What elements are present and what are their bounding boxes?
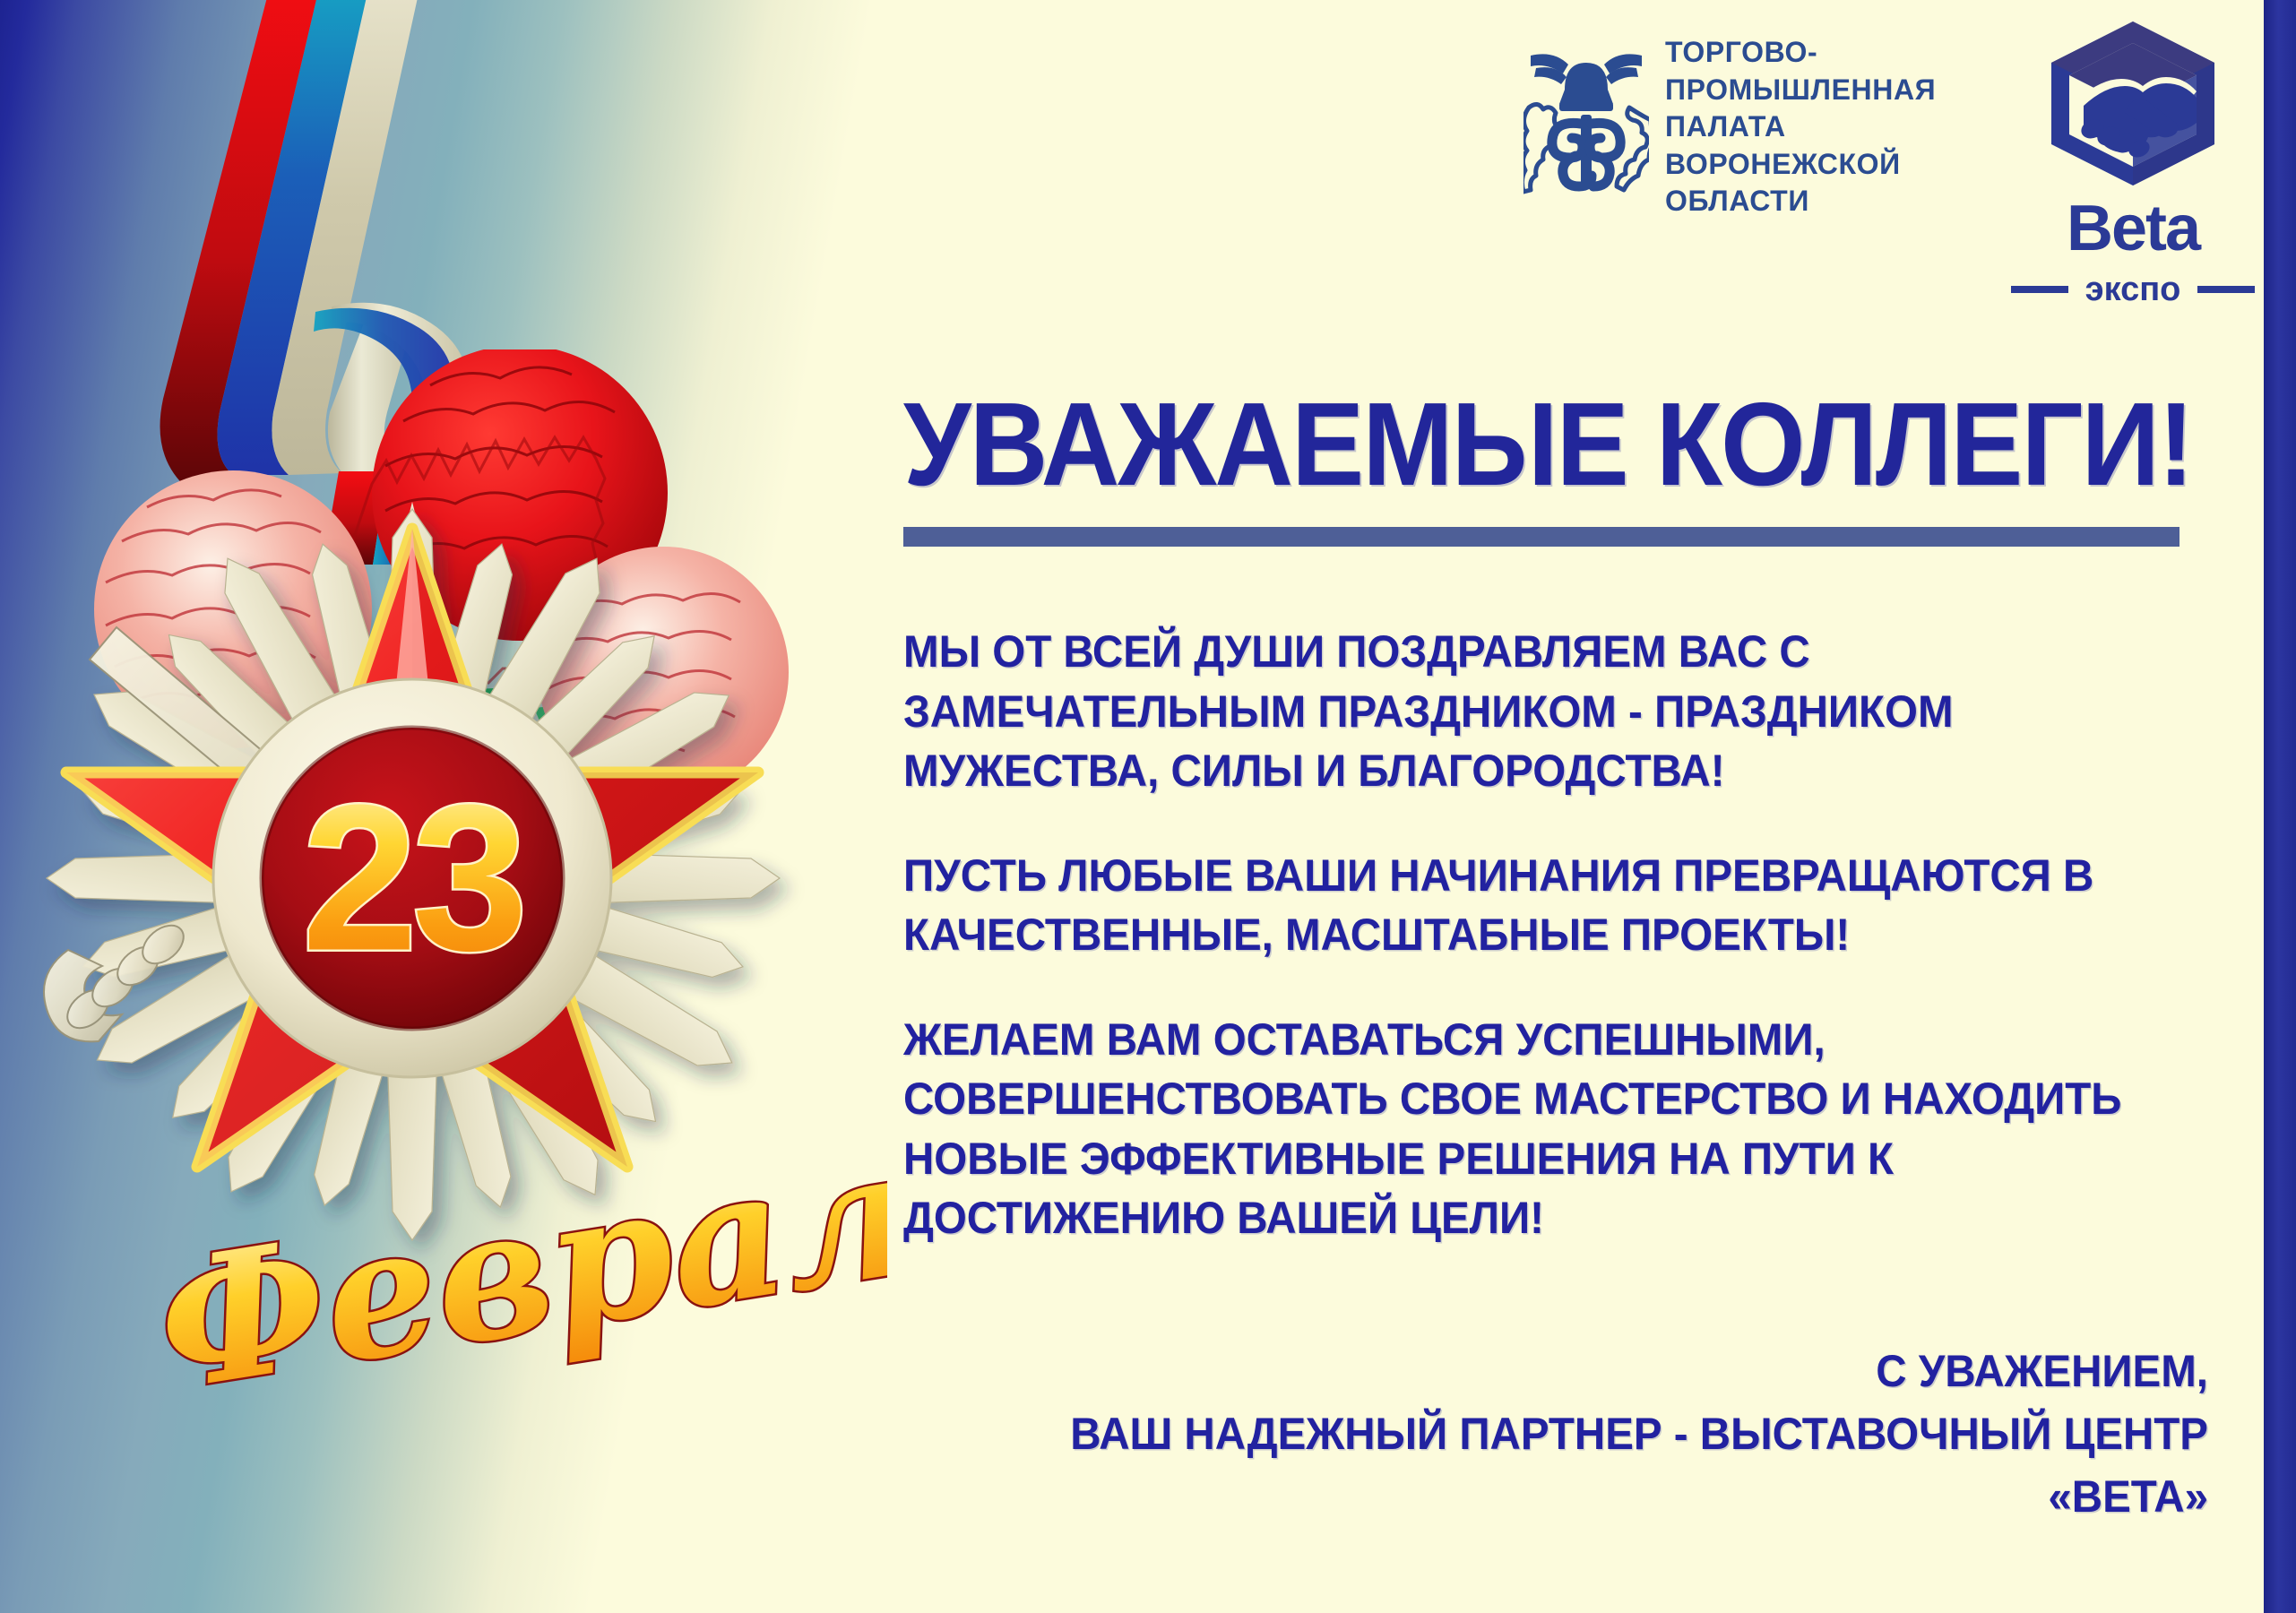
svg-text:экспо: экспо bbox=[2085, 271, 2181, 306]
paragraph-1: МЫ ОТ ВСЕЙ ДУШИ ПОЗДРАВЛЯЕМ ВАС С ЗАМЕЧА… bbox=[903, 622, 2122, 801]
handshake-hexagon-icon bbox=[2039, 16, 2227, 191]
beta-tagline: экспо bbox=[2009, 266, 2257, 306]
paragraph-2: ПУСТЬ ЛЮБЫЕ ВАШИ НАЧИНАНИЯ ПРЕВРАЩАЮТСЯ … bbox=[903, 846, 2122, 965]
beta-expo-logo[interactable]: Beta экспо bbox=[2007, 16, 2258, 306]
greeting-card: 23 Февраля bbox=[0, 0, 2296, 1613]
medal-center-disc: 23 bbox=[213, 679, 611, 1077]
tpp-line-4: ВОРОНЕЖСКОЙ bbox=[1665, 146, 1936, 184]
tpp-line-1: ТОРГОВО- bbox=[1665, 34, 1936, 72]
medal-23-february: 23 Февраля bbox=[0, 484, 887, 1613]
tpp-name-block: ТОРГОВО- ПРОМЫШЛЕННАЯ ПАЛАТА ВОРОНЕЖСКОЙ… bbox=[1665, 34, 1936, 220]
svg-text:Beta: Beta bbox=[2067, 194, 2202, 264]
title-underline-bar bbox=[903, 527, 2179, 547]
signature-line-1: С УВАЖЕНИЕМ, bbox=[969, 1340, 2208, 1402]
logo-row: ТОРГОВО- ПРОМЫШЛЕННАЯ ПАЛАТА ВОРОНЕЖСКОЙ… bbox=[1523, 25, 2258, 276]
tpp-line-2: ПРОМЫШЛЕННАЯ bbox=[1665, 72, 1936, 109]
page-title: УВАЖАЕМЫЕ КОЛЛЕГИ! bbox=[903, 385, 2084, 504]
winged-helmet-caduceus-icon bbox=[1523, 25, 1649, 195]
right-blue-border-strip bbox=[2264, 0, 2296, 1613]
signature-block: С УВАЖЕНИЕМ, ВАШ НАДЕЖНЫЙ ПАРТНЕР - ВЫСТ… bbox=[903, 1340, 2208, 1528]
signature-line-2: ВАШ НАДЕЖНЫЙ ПАРТНЕР - ВЫСТАВОЧНЫЙ ЦЕНТР… bbox=[969, 1402, 2208, 1528]
beta-wordmark: Beta bbox=[2009, 194, 2257, 264]
message-column: УВАЖАЕМЫЕ КОЛЛЕГИ! МЫ ОТ ВСЕЙ ДУШИ ПОЗДР… bbox=[903, 385, 2187, 1248]
paragraph-3: ЖЕЛАЕМ ВАМ ОСТАВАТЬСЯ УСПЕШНЫМИ, СОВЕРШЕ… bbox=[903, 1010, 2122, 1248]
tpp-line-5: ОБЛАСТИ bbox=[1665, 183, 1936, 220]
message-paragraphs: МЫ ОТ ВСЕЙ ДУШИ ПОЗДРАВЛЯЕМ ВАС С ЗАМЕЧА… bbox=[903, 622, 2187, 1248]
tpp-line-3: ПАЛАТА bbox=[1665, 108, 1936, 146]
medal-day-number: 23 bbox=[302, 763, 522, 995]
tpp-voronezh-logo[interactable]: ТОРГОВО- ПРОМЫШЛЕННАЯ ПАЛАТА ВОРОНЕЖСКОЙ… bbox=[1523, 25, 1936, 220]
